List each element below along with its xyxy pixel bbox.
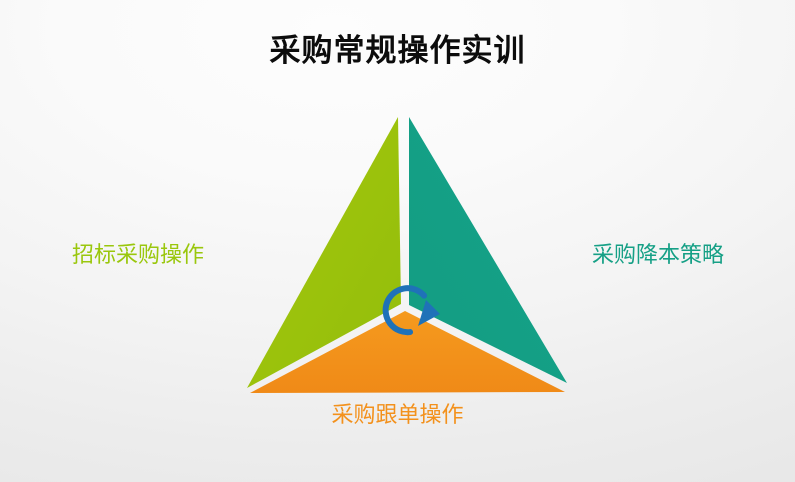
triangle-diagram	[228, 104, 580, 404]
slide-canvas: 采购常规操作实训	[0, 0, 795, 482]
segment-label-right: 采购降本策略	[592, 241, 724, 269]
segment-label-bottom: 采购跟单操作	[0, 401, 795, 429]
page-title: 采购常规操作实训	[0, 31, 795, 71]
segment-label-left: 招标采购操作	[72, 241, 204, 269]
